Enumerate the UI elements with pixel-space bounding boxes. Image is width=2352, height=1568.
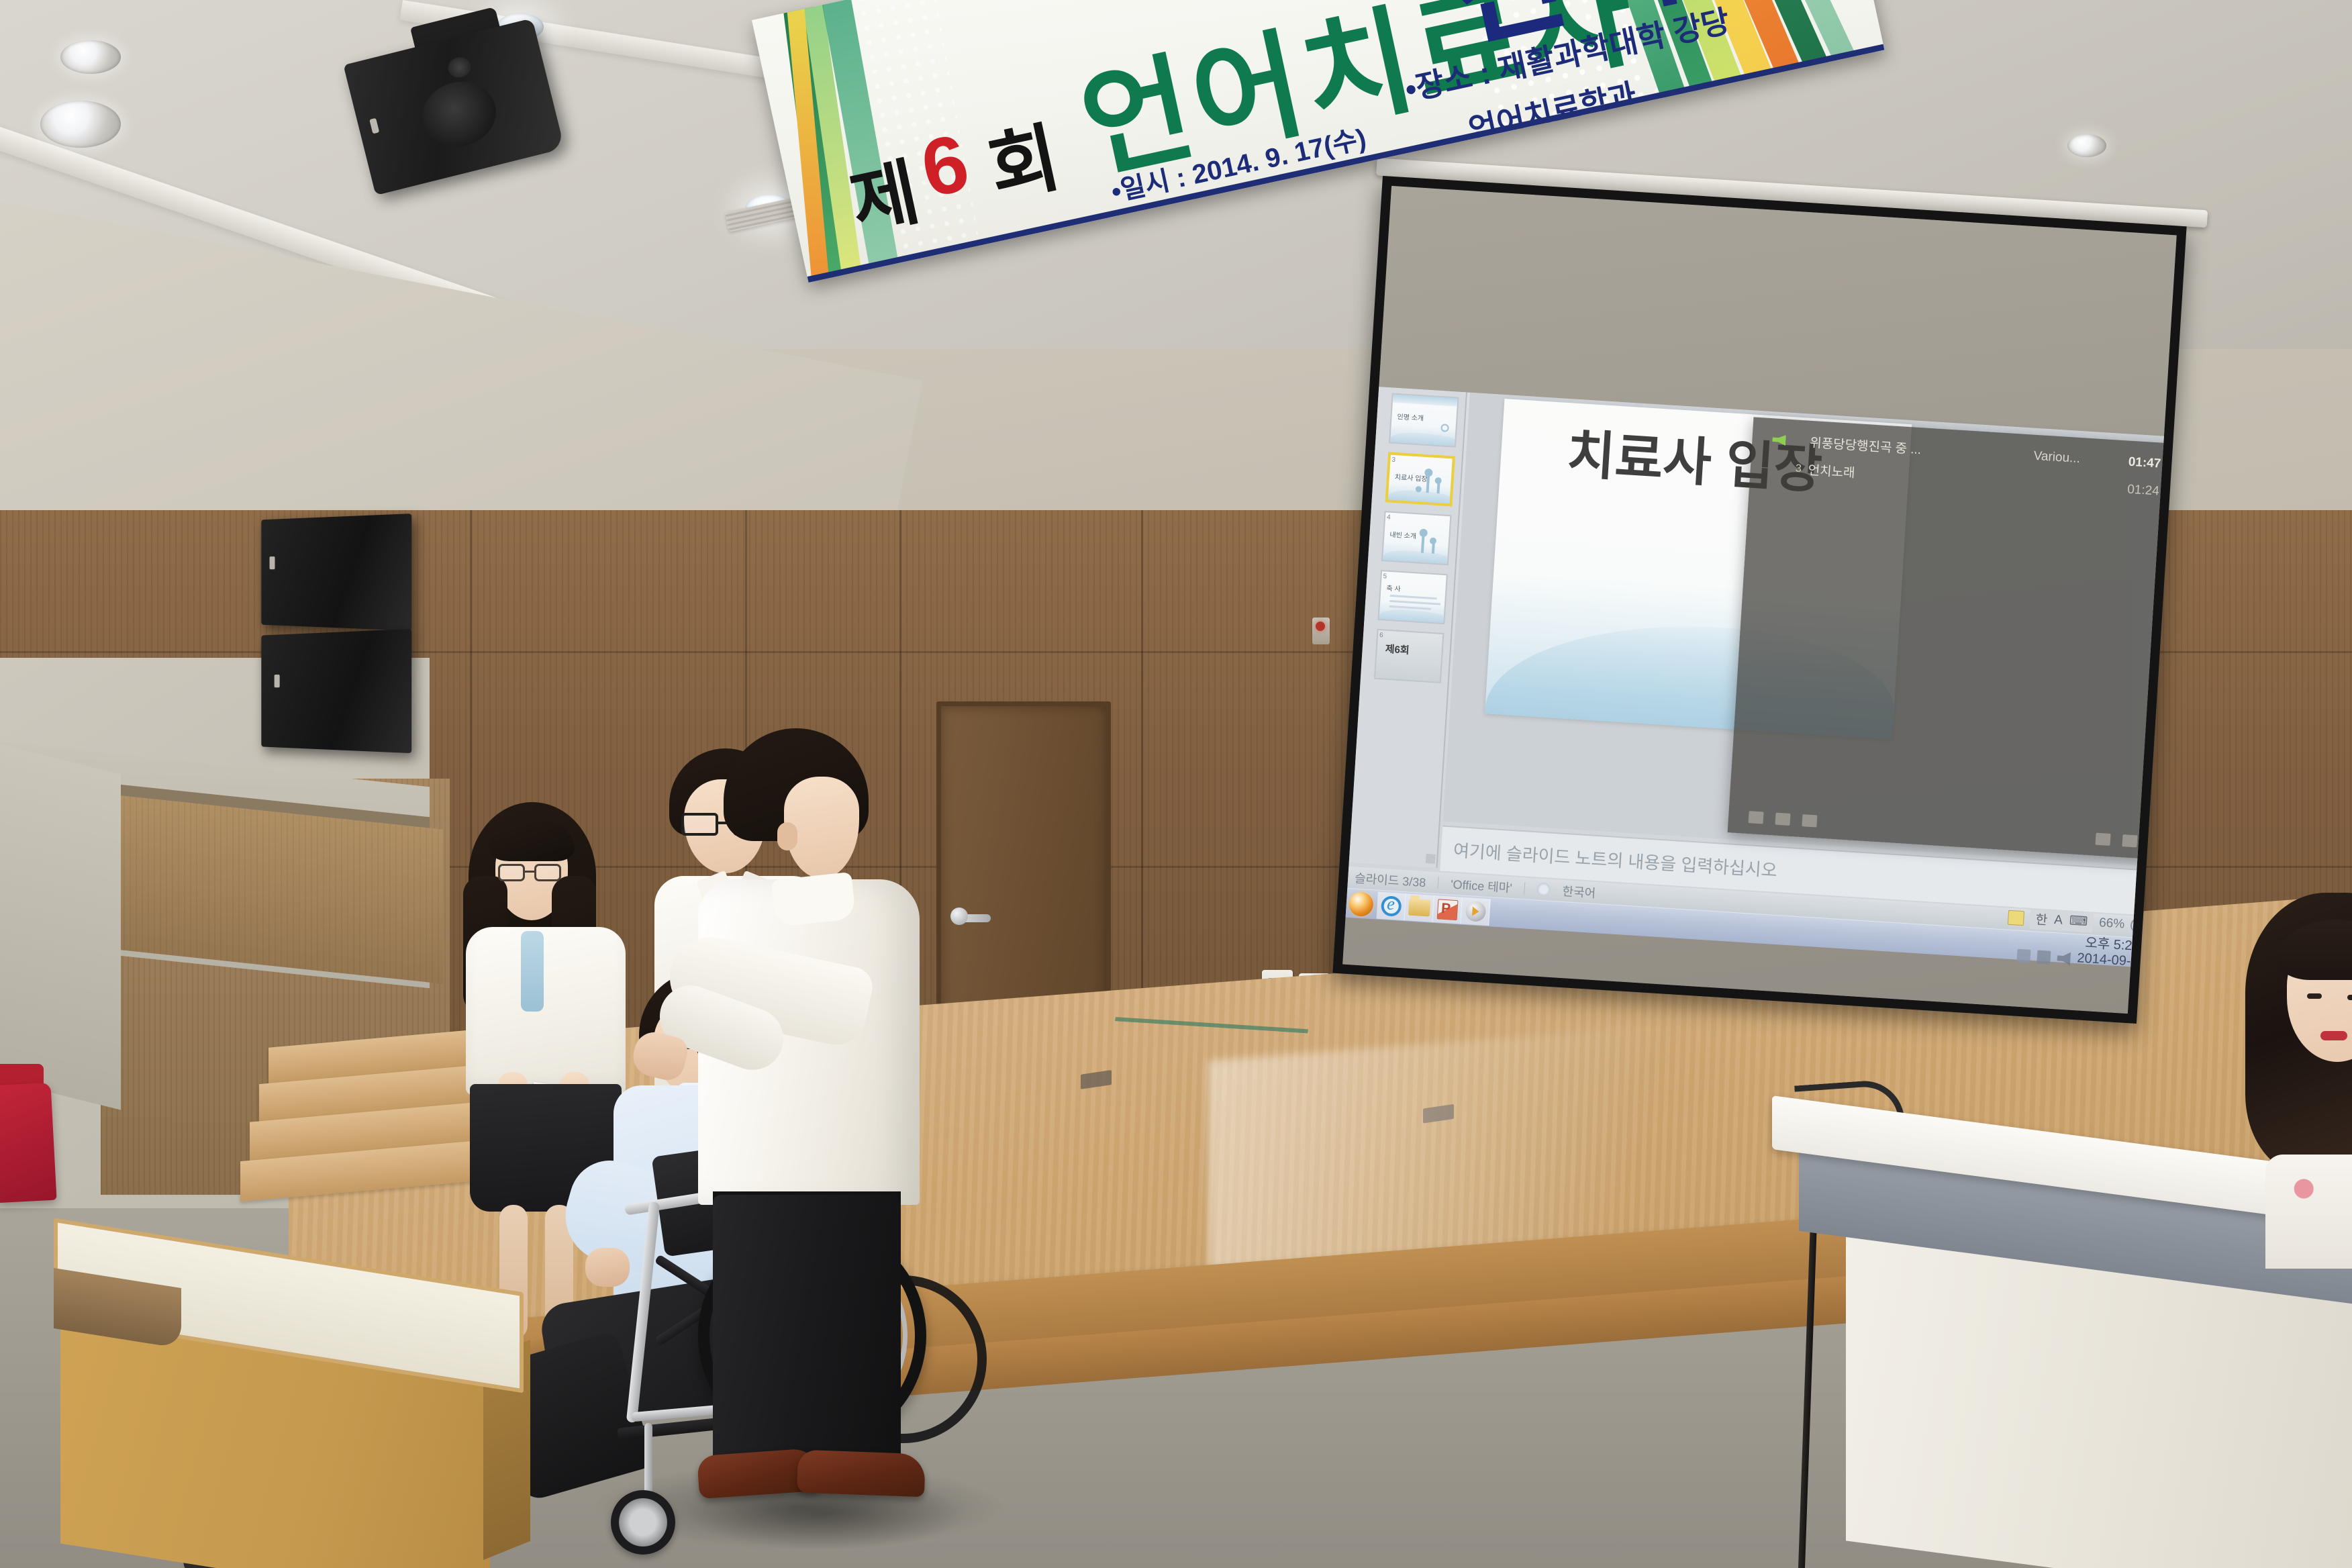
track-index bbox=[1792, 441, 1803, 442]
play-pause-icon[interactable] bbox=[1775, 813, 1790, 826]
side-rail bbox=[0, 742, 121, 1110]
wheelchair-castor-wheel bbox=[611, 1490, 675, 1555]
powerpoint-icon[interactable] bbox=[1432, 895, 1462, 924]
thumbnail-title: 내빈 소개 bbox=[1389, 529, 1416, 540]
file-explorer-icon[interactable] bbox=[1404, 893, 1434, 922]
shuffle-icon[interactable] bbox=[2096, 833, 2111, 846]
ime-glyph: A bbox=[2054, 913, 2063, 928]
thumbnail-number: 5 bbox=[1383, 573, 1387, 580]
network-icon[interactable] bbox=[2016, 949, 2030, 963]
action-center-icon[interactable] bbox=[2037, 950, 2051, 965]
media-player-window[interactable]: 위풍당당행진곡 중 ... Variou... 01:47 3 언치노래 01:… bbox=[1728, 417, 2183, 859]
stage-floor-box bbox=[1081, 1070, 1112, 1089]
track-duration: 01:24 bbox=[2112, 481, 2159, 499]
thumbnail-title: 축 사 bbox=[1386, 583, 1401, 593]
taskbar-clock[interactable]: 오후 5:21 2014-09-17 bbox=[2077, 935, 2147, 970]
track-name: 위풍당당행진곡 중 ... bbox=[1810, 433, 2028, 464]
person-woman-at-podium bbox=[2245, 893, 2352, 1269]
thumbnail-title: 제6회 bbox=[1385, 642, 1410, 657]
wall-speaker-stack-icon bbox=[255, 517, 423, 752]
thumbnail-number: 6 bbox=[1379, 632, 1383, 639]
wheelchair-frame bbox=[626, 1202, 660, 1423]
thumbnail-number: 4 bbox=[1387, 513, 1391, 521]
track-index: 3 bbox=[1790, 462, 1802, 475]
slide-thumbnail[interactable]: 6 제6회 bbox=[1374, 629, 1444, 683]
track-artist: Variou... bbox=[2033, 448, 2108, 468]
lips bbox=[2320, 1031, 2347, 1040]
recessed-downlight-icon bbox=[2067, 134, 2106, 157]
ime-glyph: 한 bbox=[2035, 910, 2048, 928]
next-icon[interactable] bbox=[1802, 814, 1817, 827]
floral-top bbox=[2265, 1155, 2352, 1269]
start-orb-icon[interactable] bbox=[1349, 891, 1374, 917]
media-playlist[interactable]: 위풍당당행진곡 중 ... Variou... 01:47 3 언치노래 01:… bbox=[1769, 430, 2161, 509]
stage-floor-tape bbox=[1115, 1017, 1308, 1033]
previous-icon[interactable] bbox=[1749, 811, 1764, 824]
black-trousers bbox=[713, 1195, 901, 1477]
internet-explorer-icon[interactable] bbox=[1377, 891, 1406, 920]
person-man-assisting bbox=[698, 728, 920, 1493]
zoom-out-icon[interactable] bbox=[2130, 918, 2145, 933]
ceiling-speaker-icon bbox=[338, 0, 575, 209]
eye bbox=[2307, 993, 2322, 999]
slide-thumbnail[interactable]: 5 축 사 bbox=[1377, 570, 1448, 624]
scarf bbox=[521, 931, 544, 1012]
track-name: 언치노래 bbox=[1808, 460, 2026, 492]
zoom-level-label[interactable]: 66% bbox=[2099, 916, 2125, 932]
language-globe-icon[interactable] bbox=[1536, 883, 1551, 897]
eye bbox=[2347, 995, 2352, 1000]
thumbnail-scroll-down-icon[interactable] bbox=[1426, 854, 1436, 864]
recessed-downlight-icon bbox=[60, 40, 121, 74]
ime-glyph: ⌨ bbox=[2069, 913, 2088, 930]
ear bbox=[777, 822, 797, 850]
slide-counter: 슬라이드 3/38 bbox=[1354, 869, 1426, 891]
slide-thumbnail[interactable]: 4 내빈 소개 bbox=[1381, 511, 1452, 565]
speaker-playing-icon bbox=[1772, 434, 1786, 446]
emergency-lamp-icon bbox=[1312, 618, 1330, 644]
track-duration: 01:47 bbox=[2114, 454, 2161, 471]
theme-name[interactable]: 'Office 테마' bbox=[1450, 875, 1512, 896]
door-lock-icon[interactable] bbox=[950, 908, 968, 925]
banner-ordinal-suffix: 회 bbox=[977, 97, 1068, 217]
photograph-scene: 2 인명 소개 3 치료사 입장 bbox=[0, 0, 2352, 1568]
volume-icon[interactable] bbox=[2057, 951, 2071, 965]
white-blouse bbox=[466, 927, 626, 1095]
track-artist bbox=[2032, 483, 2106, 488]
scroll-up-icon[interactable] bbox=[2158, 638, 2169, 649]
repeat-icon[interactable] bbox=[2122, 834, 2137, 847]
ime-indicator[interactable]: 한 A ⌨ bbox=[2030, 908, 2094, 933]
clock-date: 2014-09-17 bbox=[2077, 950, 2147, 970]
eyeglasses-icon bbox=[498, 864, 565, 881]
banner-surface: 제 6 회 언어치료사 선서식 •일시 : 2014. 9. 17(수) •장소… bbox=[752, 0, 1884, 283]
language-label[interactable]: 한국어 bbox=[1562, 882, 1596, 901]
windows-media-player-icon[interactable] bbox=[1461, 897, 1490, 926]
wooden-desk[interactable] bbox=[13, 1255, 537, 1568]
wheelchair-castor-fork bbox=[644, 1423, 652, 1497]
auditorium-seat[interactable] bbox=[0, 1083, 57, 1203]
fit-to-window-icon[interactable] bbox=[2008, 910, 2024, 925]
leather-loafer bbox=[797, 1450, 926, 1498]
recessed-downlight-icon bbox=[40, 101, 121, 148]
